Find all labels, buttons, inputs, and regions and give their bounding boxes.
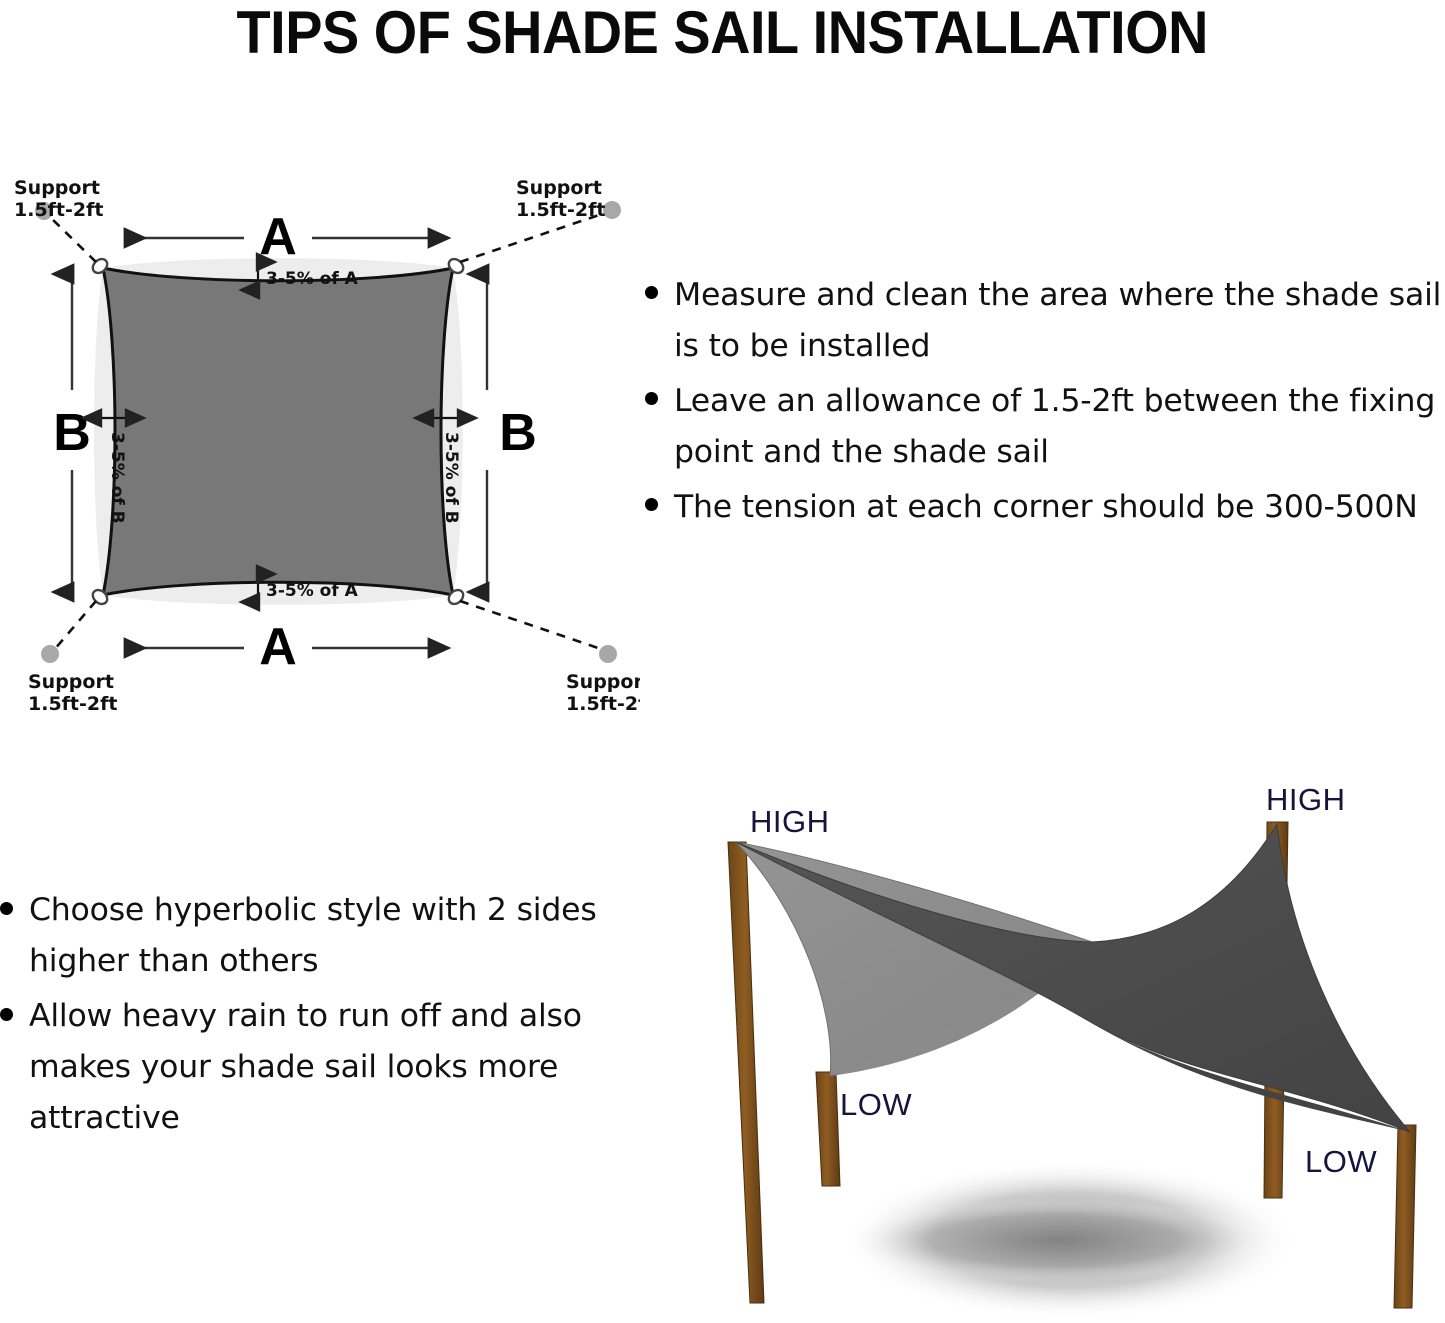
- post-low-left: [816, 1072, 840, 1186]
- support-dot-bottom-left: [41, 645, 59, 663]
- support-label-bottom-left: Support 1.5ft-2ft: [28, 671, 117, 715]
- title-bar: TIPS OF SHADE SAIL INSTALLATION: [0, 0, 1445, 66]
- list-item: Allow heavy rain to run off and also mak…: [0, 991, 630, 1144]
- list-item-label: Choose hyperbolic style with 2 sides hig…: [29, 885, 630, 987]
- bullet-dot-icon: [0, 902, 13, 915]
- hyperbolic-benefits-list: Choose hyperbolic style with 2 sides hig…: [0, 885, 630, 1144]
- page-title: TIPS OF SHADE SAIL INSTALLATION: [237, 3, 1208, 63]
- list-item-label: Measure and clean the area where the sha…: [674, 270, 1445, 372]
- support-label-line1: Support: [28, 671, 114, 693]
- ground-shadow-rect: [845, 1198, 1265, 1283]
- curve-label-b-right: 3-5% of B: [441, 432, 461, 524]
- list-item: Leave an allowance of 1.5-2ft between th…: [645, 376, 1445, 478]
- curve-label-a-top: 3-5% of A: [266, 269, 359, 289]
- support-label-line1: Support: [566, 671, 640, 693]
- post-low-right: [1394, 1125, 1416, 1308]
- bullet-dot-icon: [645, 286, 658, 299]
- label-high-left: HIGH: [750, 804, 830, 839]
- list-item: Choose hyperbolic style with 2 sides hig…: [0, 885, 630, 987]
- support-label-line2: 1.5ft-2ft: [516, 199, 605, 221]
- dim-letter-a-bottom: A: [259, 618, 297, 676]
- hyper-diagram-panel: HIGH HIGH LOW LOW: [640, 780, 1445, 1319]
- rect-diagram-panel: Support 1.5ft-2ft Support 1.5ft-2ft Supp…: [0, 150, 640, 750]
- support-dot-bottom-right: [599, 645, 617, 663]
- curve-label-b-left: 3-5% of B: [107, 432, 127, 524]
- label-low-left: LOW: [840, 1087, 912, 1122]
- tie-line-bottom-right: [460, 601, 604, 650]
- list-item-label: The tension at each corner should be 300…: [674, 482, 1418, 533]
- tips-list-panel: Measure and clean the area where the sha…: [645, 270, 1445, 660]
- list-item: The tension at each corner should be 300…: [645, 482, 1445, 533]
- curve-label-a-bottom: 3-5% of A: [266, 581, 359, 601]
- dim-letter-a-top: A: [259, 208, 297, 266]
- support-label-top-right: Support 1.5ft-2ft: [516, 177, 605, 221]
- bullet-dot-icon: [0, 1008, 13, 1021]
- support-label-line1: Support: [516, 177, 602, 199]
- rect-diagram-svg: Support 1.5ft-2ft Support 1.5ft-2ft Supp…: [0, 150, 640, 750]
- list-item: Measure and clean the area where the sha…: [645, 270, 1445, 372]
- installation-tips-list: Measure and clean the area where the sha…: [645, 270, 1445, 533]
- bullet-dot-icon: [645, 392, 658, 405]
- support-label-bottom-right: Support 1.5ft-2ft: [566, 671, 640, 715]
- support-label-line1: Support: [14, 177, 100, 199]
- support-label-line2: 1.5ft-2ft: [14, 199, 103, 221]
- support-label-top-left: Support 1.5ft-2ft: [14, 177, 103, 221]
- hyperbolic-diagram-svg: HIGH HIGH LOW LOW: [640, 780, 1445, 1319]
- list-item-label: Allow heavy rain to run off and also mak…: [29, 991, 630, 1144]
- post-high-left: [728, 842, 764, 1303]
- bullet-dot-icon: [645, 498, 658, 511]
- support-dot-top-right: [603, 201, 621, 219]
- dim-letter-b-left: B: [53, 404, 91, 462]
- label-high-right: HIGH: [1266, 782, 1346, 817]
- tie-line-top-left: [48, 215, 96, 262]
- tie-line-bottom-left: [54, 601, 96, 650]
- support-label-line2: 1.5ft-2ft: [28, 693, 117, 715]
- hyper-list-panel: Choose hyperbolic style with 2 sides hig…: [0, 885, 630, 1215]
- list-item-label: Leave an allowance of 1.5-2ft between th…: [674, 376, 1445, 478]
- label-low-right: LOW: [1305, 1144, 1377, 1179]
- dim-letter-b-right: B: [499, 404, 537, 462]
- shade-sail-shape: [103, 268, 453, 595]
- support-label-line2: 1.5ft-2ft: [566, 693, 640, 715]
